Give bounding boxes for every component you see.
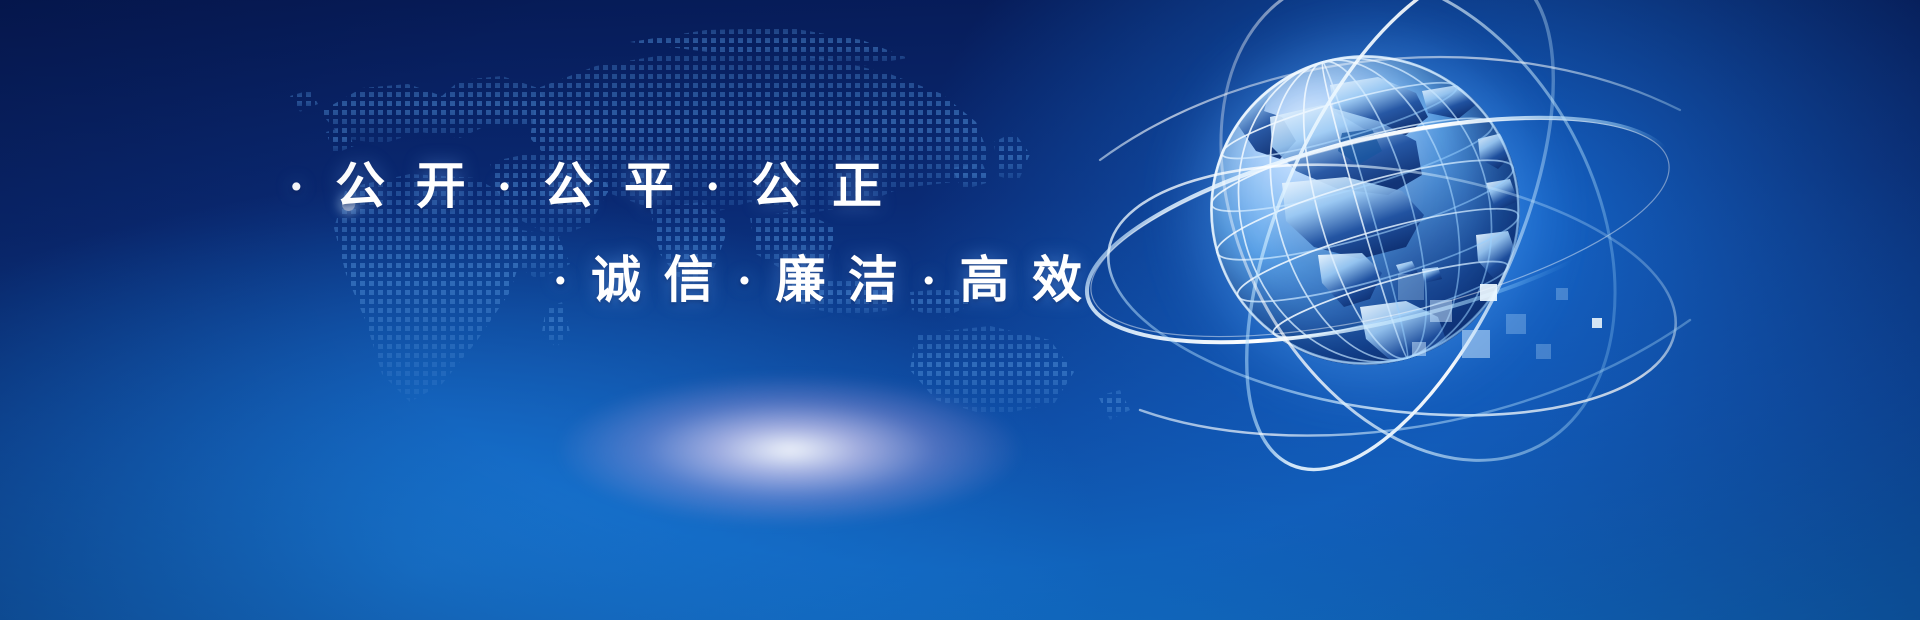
headline-block: · 公 开 · 公 平 · 公 正 · 诚 信 · 廉 洁 · 高 效 <box>0 0 1920 620</box>
banner-root: · 公 开 · 公 平 · 公 正 · 诚 信 · 廉 洁 · 高 效 <box>0 0 1920 620</box>
headline-line-1: · 公 开 · 公 平 · 公 正 <box>288 146 891 218</box>
headline-line-2: · 诚 信 · 廉 洁 · 高 效 <box>552 240 1087 312</box>
